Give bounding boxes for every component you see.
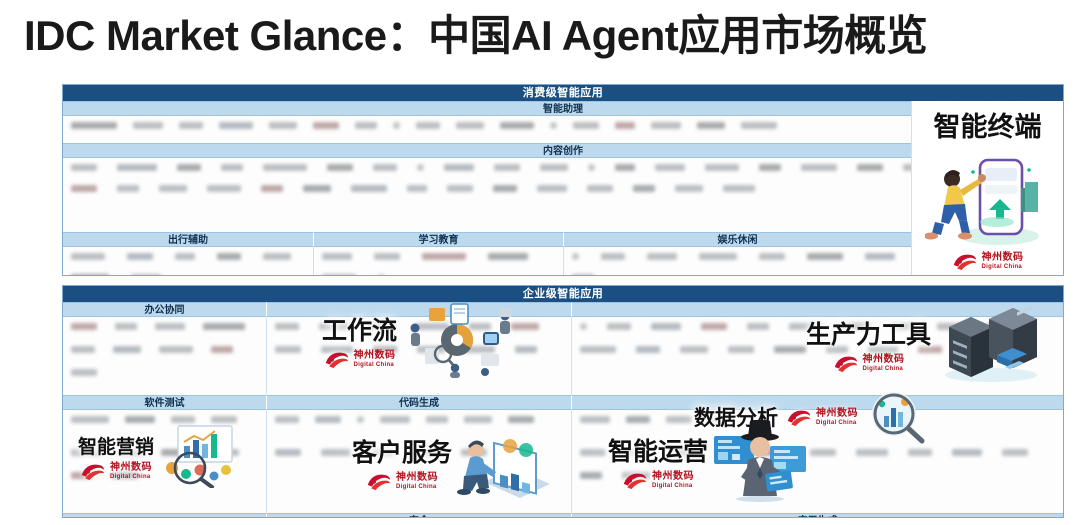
logo-cell-software-testing <box>63 410 266 443</box>
logo-chip-group <box>267 443 571 513</box>
logo-chip-group <box>564 247 911 276</box>
logo-chip-group <box>267 317 571 395</box>
subcategory-entertainment-leisure: 娱乐休闲 <box>563 232 911 247</box>
logo-chip-group <box>63 443 266 513</box>
subcategory-blank-1 <box>266 302 571 317</box>
logo-chip-group <box>63 410 266 443</box>
subcategory-learning-education: 学习教育 <box>313 232 563 247</box>
subcategory-blank-3 <box>571 395 1063 410</box>
person-with-smartphone-illustration <box>925 144 1051 250</box>
logo-chip-group <box>63 317 266 395</box>
subcategory-code-generation: 代码生成 <box>266 395 571 410</box>
consumer-applications-matrix: 消费级智能应用 智能助理 内容创作 <box>62 84 1064 276</box>
highlight-label-smart-terminal: 智能终端 <box>934 105 1042 144</box>
logo-cell-office-collaboration <box>63 317 266 395</box>
logo-chip-group <box>63 247 313 276</box>
logo-cell-entertainment-leisure <box>563 247 911 276</box>
logo-row-enterprise-3 <box>63 443 1063 513</box>
logo-row-enterprise-2 <box>63 410 1063 443</box>
logo-cell-code-generation <box>266 410 571 443</box>
market-glance-poster: IDC Market Glance：中国AI Agent应用市场概览 消费级智能… <box>0 0 1080 525</box>
logo-chip-group <box>572 410 1063 443</box>
logo-chip-group <box>572 443 1063 513</box>
highlight-card-smart-terminal: 智能终端 <box>911 101 1063 275</box>
logo-cell-productivity-tools <box>571 317 1063 395</box>
logo-chip-group <box>572 317 1063 395</box>
enterprise-section-header: 企业级智能应用 <box>63 286 1063 302</box>
enterprise-subcategory-band-row-3: 安全 应用生成 <box>63 513 1063 518</box>
subcategory-blank-4 <box>63 513 266 518</box>
logo-chip-group <box>314 247 563 276</box>
brand-name-cn: 神州数码 <box>982 253 1024 263</box>
enterprise-subcategory-band-row-1: 办公协同 <box>63 302 1063 317</box>
subcategory-blank-2 <box>571 302 1063 317</box>
logo-cell-intelligent-marketing <box>63 443 266 513</box>
logo-chip-group <box>267 410 571 443</box>
consumer-section-header: 消费级智能应用 <box>63 85 1063 101</box>
logo-cell-learning-education <box>313 247 563 276</box>
subcategory-software-testing: 软件测试 <box>63 395 266 410</box>
enterprise-applications-matrix: 企业级智能应用 办公协同 <box>62 285 1064 518</box>
brand-name-en: Digital China <box>982 264 1024 270</box>
subcategory-application-generation: 应用生成 <box>571 513 1063 518</box>
subcategory-travel-assistance: 出行辅助 <box>63 232 313 247</box>
logo-cell-workflow <box>266 317 571 395</box>
digital-china-mark-icon <box>952 252 978 271</box>
digital-china-logo: 神州数码 Digital China <box>952 252 1024 271</box>
subcategory-office-collaboration: 办公协同 <box>63 302 266 317</box>
logo-cell-customer-service <box>266 443 571 513</box>
logo-cell-data-analysis <box>571 410 1063 443</box>
logo-cell-travel-assistance <box>63 247 313 276</box>
logo-row-enterprise-1 <box>63 317 1063 395</box>
subcategory-security: 安全 <box>266 513 571 518</box>
enterprise-subcategory-band-row-2: 软件测试 代码生成 <box>63 395 1063 410</box>
page-title: IDC Market Glance：中国AI Agent应用市场概览 <box>24 14 1064 58</box>
logo-cell-intelligent-operations <box>571 443 1063 513</box>
